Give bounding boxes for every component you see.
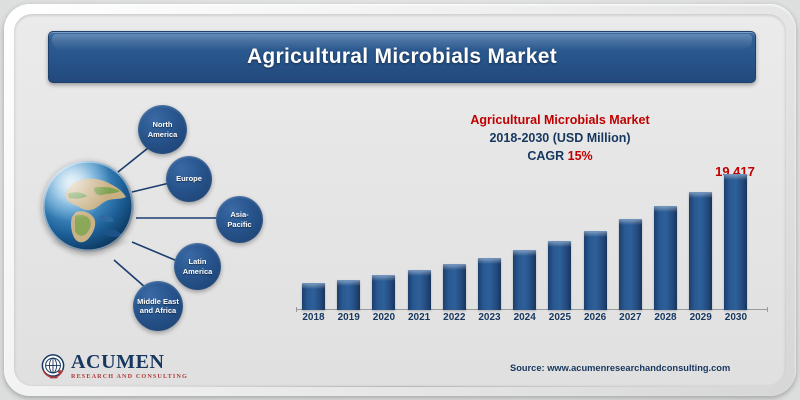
bar-2022: [443, 264, 466, 310]
region-label: Asia-Pacific: [216, 210, 263, 228]
region-bubble-latin-america[interactable]: Latin America: [174, 243, 221, 290]
x-tick-2027: 2027: [612, 312, 648, 323]
chart-heading: Agricultural Microbials Market 2018-2030…: [400, 112, 720, 165]
x-tick-2024: 2024: [507, 312, 543, 323]
page-title: Agricultural Microbials Market: [247, 45, 557, 69]
bar-2019: [337, 280, 360, 310]
x-tick-2029: 2029: [683, 312, 719, 323]
chart-title: Agricultural Microbials Market: [400, 112, 720, 130]
x-tick-2026: 2026: [577, 312, 613, 323]
bar-2023: [478, 258, 501, 310]
x-tick-2020: 2020: [366, 312, 402, 323]
region-label: Europe: [173, 174, 205, 183]
region-label: Middle East and Africa: [133, 297, 183, 315]
bar-chart-plot: [296, 160, 768, 310]
region-label: North America: [138, 120, 187, 138]
bar-2028: [654, 206, 677, 310]
header-title-bar: Agricultural Microbials Market: [48, 31, 756, 83]
x-tick-2023: 2023: [472, 312, 508, 323]
content-stage: Agricultural Microbials Market: [0, 0, 800, 400]
x-tick-2022: 2022: [436, 312, 472, 323]
acumen-logo-name: ACUMEN: [71, 352, 188, 372]
region-bubble-middle-east-and-africa[interactable]: Middle East and Africa: [133, 281, 183, 331]
infographic-root: Agricultural Microbials Market: [0, 0, 800, 400]
bar-2029: [689, 192, 712, 310]
bar-2020: [372, 275, 395, 310]
bar-2018: [302, 283, 325, 310]
x-tick-2025: 2025: [542, 312, 578, 323]
bar-2030: [724, 174, 747, 310]
x-tick-2030: 2030: [718, 312, 754, 323]
x-tick-2018: 2018: [296, 312, 332, 323]
acumen-globe-emblem-icon: [40, 353, 68, 381]
chart-subtitle: 2018-2030 (USD Million): [400, 130, 720, 148]
acumen-logo-text: ACUMEN RESEARCH AND CONSULTING: [71, 352, 188, 380]
bar-2027: [619, 219, 642, 310]
x-tick-2028: 2028: [648, 312, 684, 323]
region-bubble-north-america[interactable]: North America: [138, 105, 187, 154]
x-tick-2019: 2019: [331, 312, 367, 323]
globe-graphic: [42, 160, 138, 256]
globe-icon: [42, 160, 134, 252]
footer-divider: [34, 386, 766, 387]
region-bubble-asia-pacific[interactable]: Asia-Pacific: [216, 196, 263, 243]
bar-2024: [513, 250, 536, 310]
region-label: Latin America: [174, 257, 221, 275]
acumen-logo-tagline: RESEARCH AND CONSULTING: [71, 373, 188, 380]
x-tick-2021: 2021: [401, 312, 437, 323]
bar-2026: [584, 231, 607, 310]
bar-2021: [408, 270, 431, 310]
source-text: Source: www.acumenresearchandconsulting.…: [510, 363, 770, 373]
x-axis-labels: 2018201920202021202220232024202520262027…: [296, 312, 768, 328]
region-bubble-europe[interactable]: Europe: [166, 156, 212, 202]
acumen-logo[interactable]: ACUMEN RESEARCH AND CONSULTING: [40, 352, 220, 386]
bar-2025: [548, 241, 571, 310]
